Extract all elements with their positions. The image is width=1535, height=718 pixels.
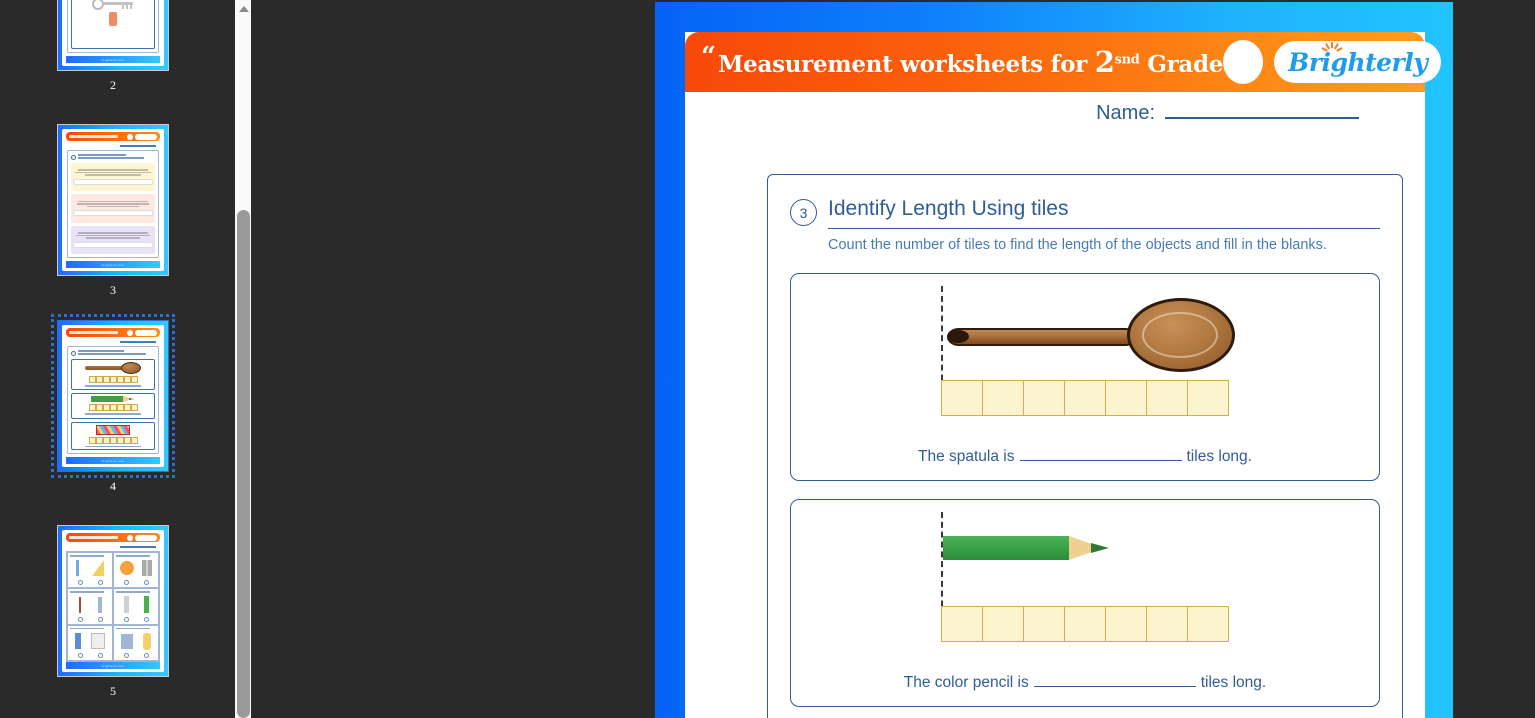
mini-sheet: brighterly.com	[62, 325, 164, 467]
mini-problem-1	[71, 163, 155, 191]
tile	[1187, 606, 1229, 642]
mini-avatar-circle-icon	[127, 535, 133, 541]
mini-page-5: brighterly.com	[58, 526, 168, 676]
tile	[982, 380, 1024, 416]
thumbnail-page-4[interactable]: brighterly.com	[57, 320, 169, 472]
figure-color-pencil	[935, 506, 1235, 648]
page-thumbnail-sidebar[interactable]: brighterly.com 2	[0, 0, 226, 718]
mini-choice-grid	[66, 551, 160, 662]
name-field-label: Name:	[1096, 102, 1155, 125]
sunburst-icon	[1321, 42, 1343, 56]
tile	[1187, 380, 1229, 416]
quote-mark-icon: “	[701, 44, 716, 70]
app-root: brighterly.com 2	[0, 0, 1535, 718]
mini-banner	[66, 533, 160, 542]
mini-tiles	[89, 376, 138, 383]
question-card-spatula: The spatula istiles long.	[790, 273, 1380, 481]
mini-logo-pill	[135, 535, 157, 541]
name-field-row: Name:	[1096, 102, 1359, 125]
thumbnail-page-2[interactable]: brighterly.com	[57, 0, 169, 71]
mini-choice-cell	[67, 625, 113, 661]
exercise-panel: 3 Identify Length Using tiles Count the …	[767, 174, 1403, 718]
mini-question-candy	[71, 422, 155, 451]
mini-logo-pill	[135, 134, 157, 140]
name-input[interactable]	[1165, 105, 1359, 119]
mini-name-line	[120, 341, 156, 343]
mini-footer: brighterly.com	[66, 662, 160, 669]
brighterly-logo-text: Brighterly	[1288, 48, 1427, 77]
mini-number-circle	[71, 351, 76, 356]
mini-key-icon	[92, 0, 134, 10]
answer-suffix: tiles long.	[1201, 674, 1266, 691]
document-viewer[interactable]: “ Measurement worksheets for 2snd Grade …	[251, 0, 1535, 718]
worksheet-title-tail: Grade	[1140, 51, 1224, 78]
thumbnail-label-5: 5	[110, 684, 116, 699]
answer-line-spatula: The spatula istiles long.	[791, 448, 1379, 466]
mini-candy-icon	[96, 425, 130, 435]
thumbnail-item-4[interactable]: brighterly.com 4	[0, 320, 226, 494]
tile	[1064, 380, 1106, 416]
mini-choice-cell	[113, 625, 159, 661]
avatar-circle-icon	[1223, 40, 1263, 84]
tile	[941, 380, 983, 416]
answer-prefix: The color pencil is	[904, 674, 1029, 691]
wooden-spoon-icon	[943, 296, 1237, 372]
mini-page-4: brighterly.com	[58, 321, 168, 471]
mini-footer: brighterly.com	[66, 261, 160, 268]
mini-problem-2	[71, 194, 155, 222]
worksheet-title-number: 2	[1095, 45, 1115, 79]
mini-banner	[66, 328, 160, 337]
answer-blank-spatula[interactable]	[1020, 448, 1182, 461]
mini-question-spatula	[71, 359, 155, 390]
mini-pencil-icon	[91, 396, 135, 402]
tile	[982, 606, 1024, 642]
question-card-color-pencil: The color pencil istiles long.	[790, 499, 1380, 707]
mini-wooden-spoon-icon	[85, 362, 141, 374]
mini-choice-cell	[67, 552, 113, 588]
tile	[1023, 606, 1065, 642]
mini-banner-logos	[127, 535, 157, 541]
thumbnail-scrollbar[interactable]	[234, 0, 251, 718]
mini-answer-line	[85, 446, 141, 448]
thumbnail-page-3[interactable]: brighterly.com	[57, 124, 169, 276]
worksheet-header-banner: “ Measurement worksheets for 2snd Grade …	[685, 32, 1425, 92]
tile	[1146, 380, 1188, 416]
tile	[1064, 606, 1106, 642]
tile-row-spatula	[941, 380, 1229, 416]
answer-suffix: tiles long.	[1187, 448, 1252, 465]
worksheet-title: Measurement worksheets for 2snd Grade	[718, 45, 1223, 79]
mini-avatar-circle-icon	[127, 330, 133, 336]
mini-logo-pill	[135, 330, 157, 336]
exercise-header-text: Identify Length Using tiles Count the nu…	[828, 197, 1380, 255]
mini-body	[67, 150, 159, 258]
exercise-number-badge: 3	[790, 199, 817, 226]
mini-sheet: brighterly.com	[62, 0, 164, 66]
worksheet-page: “ Measurement worksheets for 2snd Grade …	[655, 2, 1453, 718]
mini-sheet: brighterly.com	[62, 530, 164, 672]
worksheet-sheet: “ Measurement worksheets for 2snd Grade …	[685, 32, 1425, 718]
worksheet-title-prefix: Measurement worksheets for	[718, 51, 1095, 78]
figure-spatula	[935, 280, 1235, 422]
tile	[1023, 380, 1065, 416]
answer-blank-color-pencil[interactable]	[1034, 674, 1196, 687]
mini-choice-cell	[113, 552, 159, 588]
thumbnail-label-4: 4	[110, 479, 116, 494]
mini-name-line	[120, 546, 156, 548]
mini-banner	[66, 132, 160, 141]
thumbnail-item-5[interactable]: brighterly.com 5	[0, 525, 226, 699]
mini-banner-logos	[127, 330, 157, 336]
thumbnail-item-2[interactable]: brighterly.com 2	[0, 0, 226, 93]
pencil-icon	[943, 536, 1119, 560]
answer-prefix: The spatula is	[918, 448, 1015, 465]
mini-title-row	[71, 350, 155, 356]
mini-tiles	[89, 437, 138, 444]
mini-eraser-icon	[109, 12, 117, 26]
mini-banner-title	[69, 135, 118, 138]
mini-footer: brighterly.com	[66, 56, 160, 63]
mini-body	[67, 0, 159, 53]
mini-avatar-circle-icon	[127, 134, 133, 140]
exercise-header: 3 Identify Length Using tiles Count the …	[790, 197, 1380, 255]
mini-name-line	[120, 145, 156, 147]
mini-answer-line	[85, 385, 141, 387]
tile	[1146, 606, 1188, 642]
exercise-description: Count the number of tiles to find the le…	[828, 236, 1328, 255]
worksheet-title-ordinal: snd	[1115, 52, 1140, 67]
mini-choice-cell	[113, 588, 159, 624]
mini-question-box	[71, 0, 155, 49]
thumbnail-page-5[interactable]: brighterly.com	[57, 525, 169, 677]
scrollbar-thumb[interactable]	[237, 210, 250, 718]
mini-page-2: brighterly.com	[58, 0, 168, 70]
mini-sheet: brighterly.com	[62, 129, 164, 271]
mini-body	[67, 346, 159, 454]
thumbnail-item-3[interactable]: brighterly.com 3	[0, 124, 226, 298]
mini-number-circle	[71, 155, 76, 160]
tile	[1105, 606, 1147, 642]
mini-title-lines	[78, 350, 155, 356]
tile	[941, 606, 983, 642]
mini-answer-line	[85, 413, 141, 415]
exercise-title: Identify Length Using tiles	[828, 197, 1380, 229]
mini-banner-logos	[127, 134, 157, 140]
mini-question-pencil	[71, 393, 155, 419]
mini-title-lines	[78, 154, 155, 160]
mini-page-3: brighterly.com	[58, 125, 168, 275]
tile-row-color-pencil	[941, 606, 1229, 642]
mini-problem-3	[71, 226, 155, 254]
answer-line-color-pencil: The color pencil istiles long.	[791, 674, 1379, 692]
brighterly-logo: Brighterly	[1274, 41, 1441, 83]
mini-title-row	[71, 154, 155, 160]
thumbnail-label-3: 3	[110, 283, 116, 298]
mini-choice-cell	[67, 588, 113, 624]
mini-banner-title	[69, 331, 118, 334]
mini-tiles	[89, 404, 138, 411]
scroll-up-arrow-icon[interactable]	[235, 0, 252, 17]
mini-footer: brighterly.com	[66, 457, 160, 464]
mini-banner-title	[69, 536, 118, 539]
tile	[1105, 380, 1147, 416]
thumbnail-label-2: 2	[110, 78, 116, 93]
